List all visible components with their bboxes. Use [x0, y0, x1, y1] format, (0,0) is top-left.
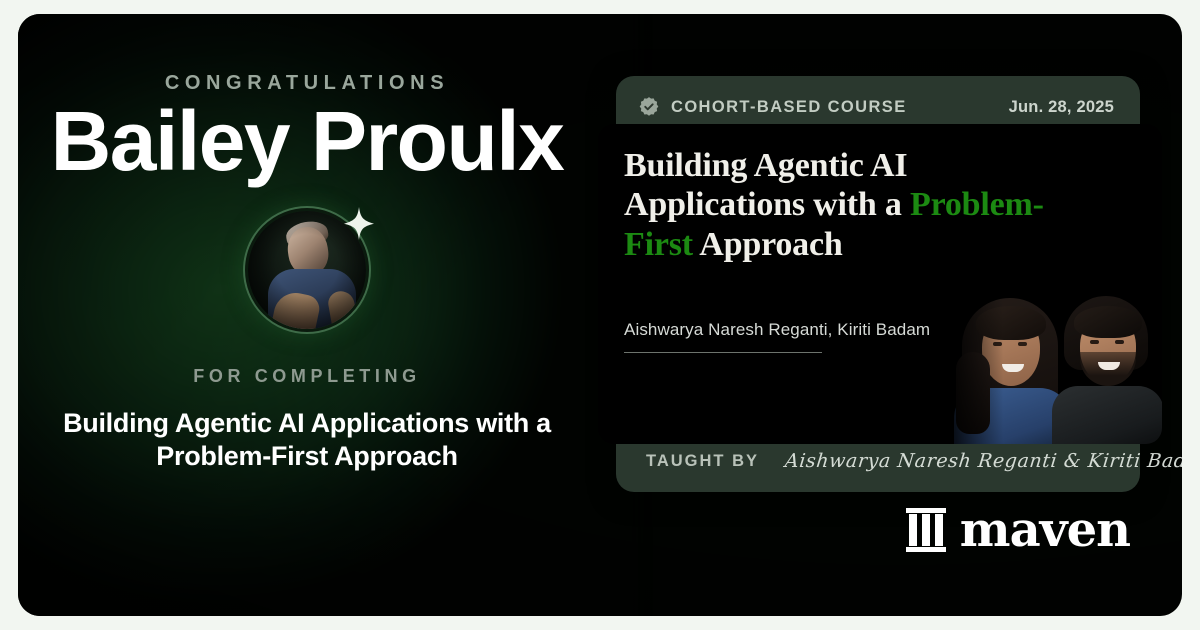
- congratulations-label: CONGRATULATIONS: [165, 72, 449, 95]
- fringe: [976, 306, 1046, 340]
- course-card-title: Building Agentic AI Applications with a …: [624, 146, 1079, 264]
- course-date: Jun. 28, 2025: [1009, 98, 1114, 117]
- instructor-photo-kiriti: [1052, 294, 1162, 444]
- course-preview-card[interactable]: COHORT-BASED COURSE Jun. 28, 2025 Buildi…: [598, 76, 1122, 492]
- eye-left: [993, 342, 1002, 346]
- course-title-part-2: Approach: [693, 226, 843, 263]
- maven-pillar-icon: [906, 508, 946, 552]
- instructor-photos: [940, 292, 1162, 444]
- maven-wordmark: maven: [960, 506, 1130, 554]
- hair-strand: [956, 352, 990, 434]
- eye-left: [1090, 340, 1099, 344]
- recipient-name: Bailey Proulx: [51, 101, 564, 182]
- certificate-page: CONGRATULATIONS Bailey Proulx: [0, 0, 1200, 630]
- completed-course-title: Building Agentic AI Applications with a …: [57, 407, 557, 473]
- course-card-body: Building Agentic AI Applications with a …: [598, 124, 1162, 444]
- for-completing-label: FOR COMPLETING: [193, 366, 420, 387]
- cohort-based-course-label: COHORT-BASED COURSE: [671, 98, 907, 117]
- taught-by-label: TAUGHT BY: [646, 452, 759, 471]
- instructor-signature: Aishwarya Naresh Reganti & Kiriti Badam: [784, 450, 1182, 472]
- fringe: [1074, 306, 1142, 338]
- avatar: [243, 206, 371, 334]
- course-card-footer: TAUGHT BY Aishwarya Naresh Reganti & Kir…: [616, 430, 1140, 492]
- course-title-part-1: Building Agentic AI Applications with a: [624, 147, 910, 223]
- certificate-left-column: CONGRATULATIONS Bailey Proulx: [18, 14, 596, 616]
- avatar-vignette: [248, 211, 366, 329]
- maven-logo[interactable]: maven: [906, 506, 1130, 554]
- certificate-card: CONGRATULATIONS Bailey Proulx: [18, 14, 1182, 616]
- verified-badge-icon: [638, 96, 660, 118]
- avatar-photo: [248, 211, 366, 329]
- eye-right: [1115, 340, 1124, 344]
- avatar-ring: [243, 206, 371, 334]
- instructor-underline: [624, 352, 822, 353]
- course-instructors: Aishwarya Naresh Reganti, Kiriti Badam: [624, 320, 930, 340]
- eye-right: [1018, 342, 1027, 346]
